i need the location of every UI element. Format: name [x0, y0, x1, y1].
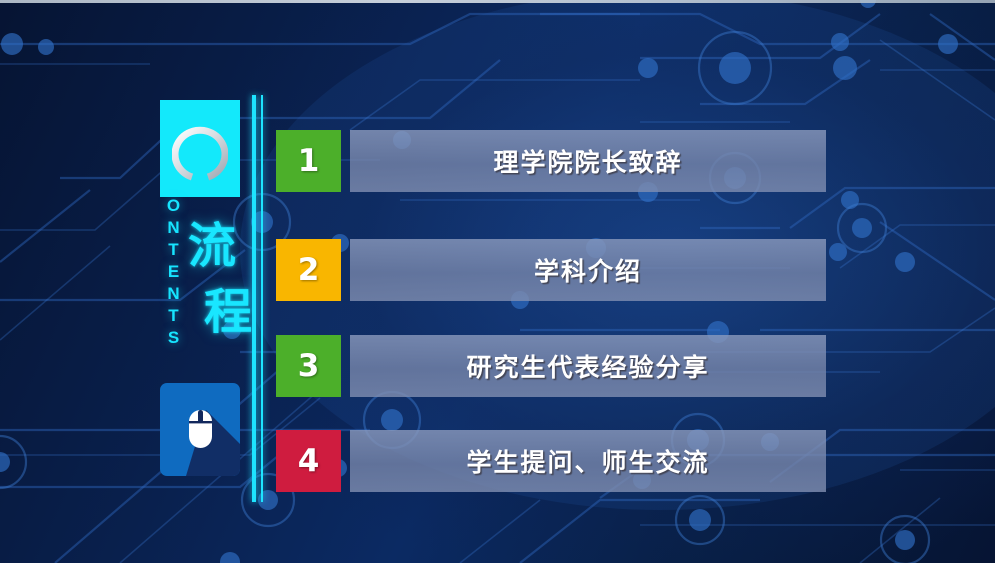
divider-line-thin: [261, 95, 263, 502]
contents-vertical-label: ONTENTS: [156, 196, 182, 346]
contents-panel: ONTENTS 流 程: [148, 90, 258, 502]
agenda-label-4: 学生提问、师生交流: [466, 443, 709, 479]
title-char-liu: 流: [188, 222, 236, 270]
agenda-bar-3[interactable]: 研究生代表经验分享: [350, 335, 826, 397]
agenda-row-1[interactable]: 1 理学院院长致辞: [276, 130, 826, 192]
agenda-badge-3[interactable]: 3: [276, 335, 341, 397]
agenda-label-1: 理学院院长致辞: [493, 143, 682, 179]
agenda-bar-2[interactable]: 学科介绍: [350, 239, 826, 301]
agenda-badge-4[interactable]: 4: [276, 430, 341, 492]
title-char-cheng: 程: [204, 288, 252, 336]
agenda-badge-2[interactable]: 2: [276, 239, 341, 301]
agenda-bar-4[interactable]: 学生提问、师生交流: [350, 430, 826, 492]
mouse-icon: [160, 383, 240, 476]
divider-line-thick: [252, 95, 256, 502]
agenda-row-3[interactable]: 3 研究生代表经验分享: [276, 335, 826, 397]
presentation-slide: .tr{fill:none;stroke:#2f67bd;stroke-opac…: [0, 0, 995, 563]
agenda-bar-1[interactable]: 理学院院长致辞: [350, 130, 826, 192]
mouse-icon-box: [160, 383, 240, 476]
slide-top-edge: [0, 0, 995, 3]
agenda-label-2: 学科介绍: [534, 252, 642, 288]
agenda-label-3: 研究生代表经验分享: [466, 348, 709, 384]
circular-ring-icon-box: [160, 100, 240, 197]
agenda-row-2[interactable]: 2 学科介绍: [276, 239, 826, 301]
agenda-row-4[interactable]: 4 学生提问、师生交流: [276, 430, 826, 492]
circular-ring-icon: [172, 126, 228, 182]
agenda-badge-1[interactable]: 1: [276, 130, 341, 192]
